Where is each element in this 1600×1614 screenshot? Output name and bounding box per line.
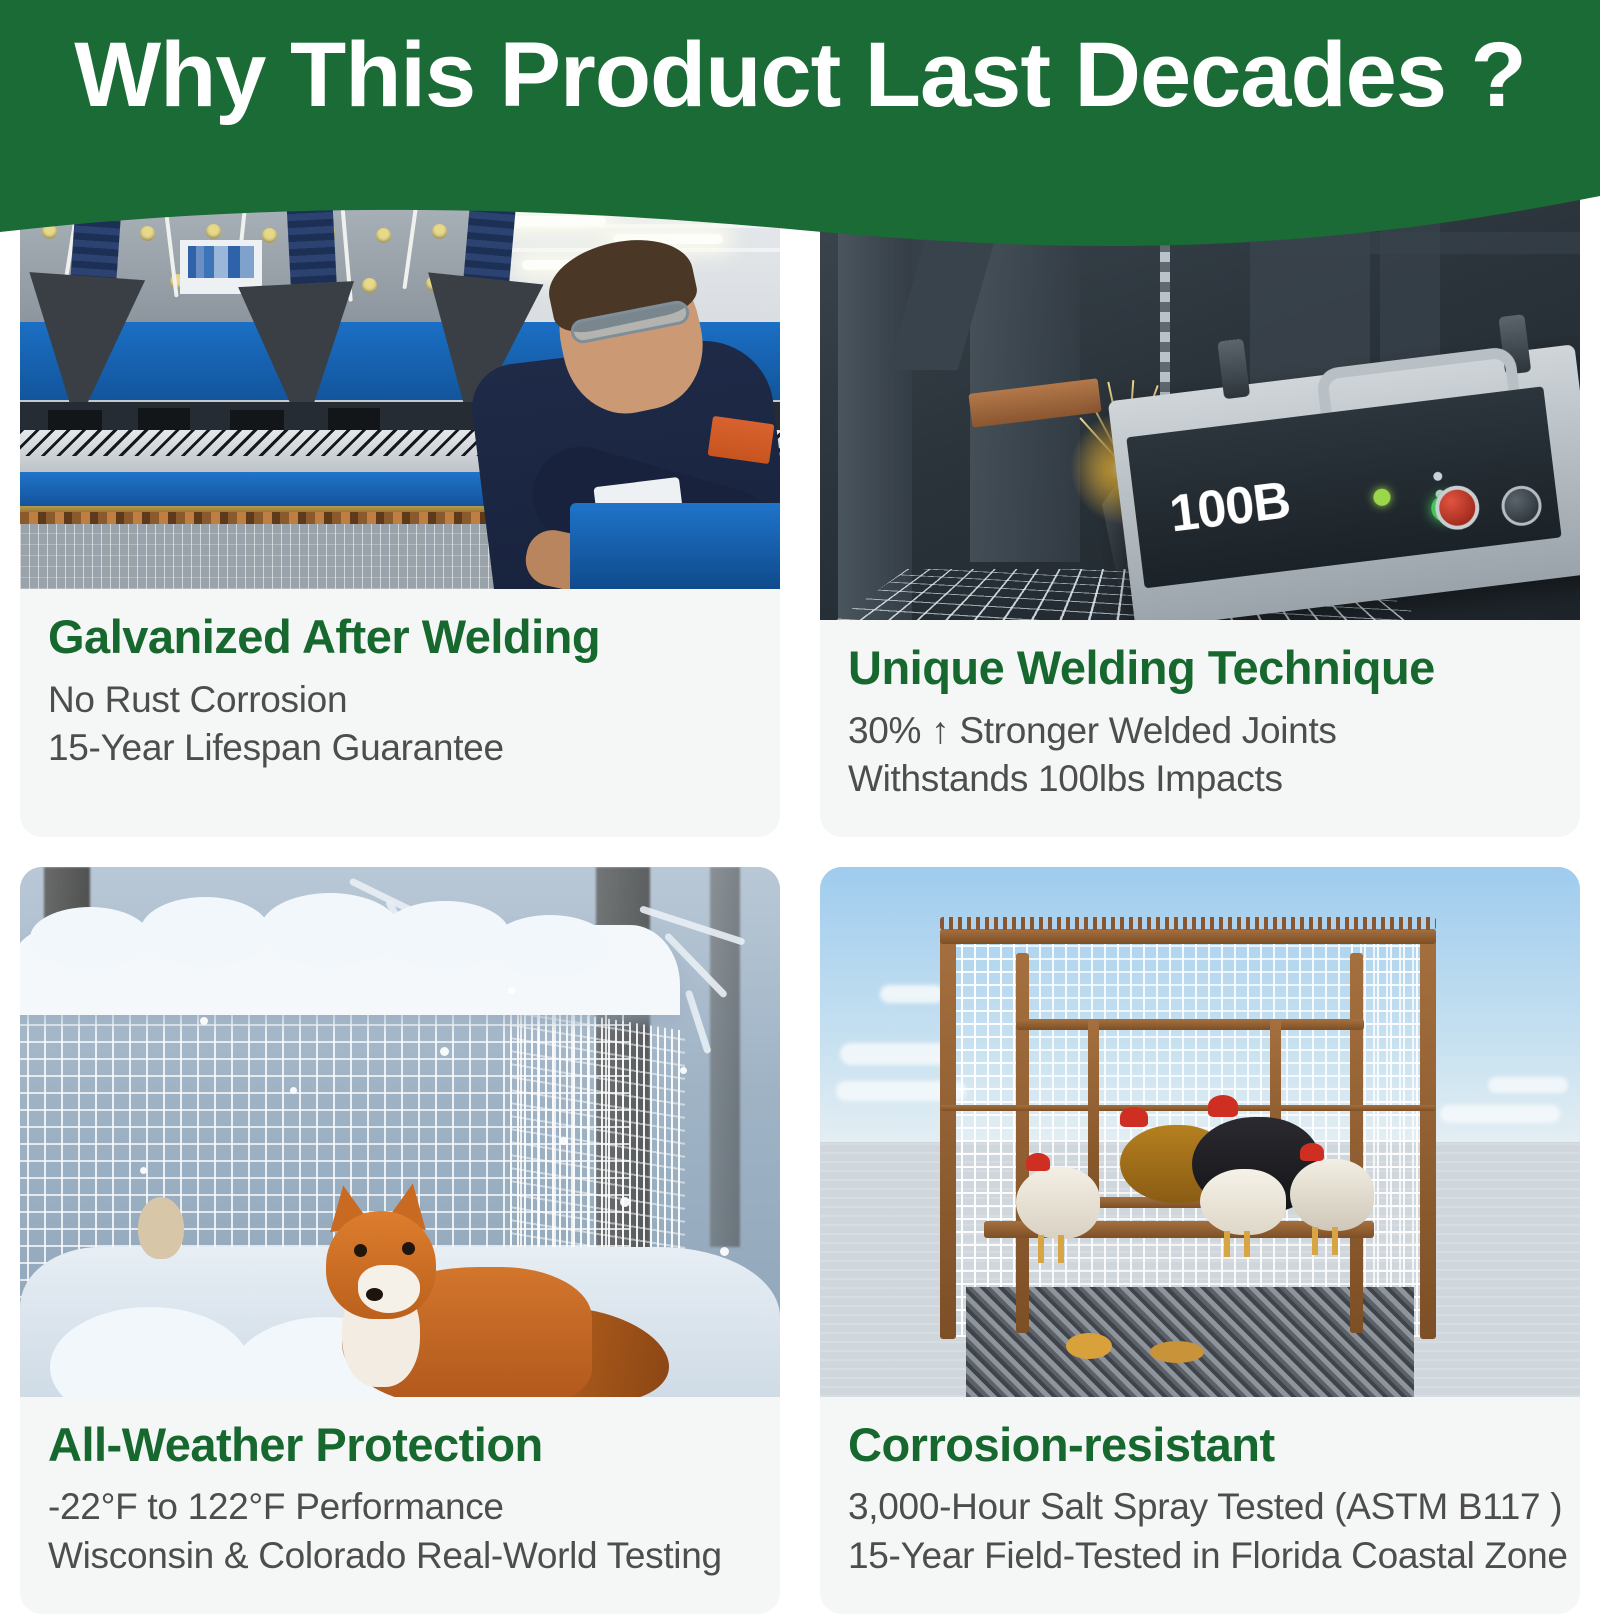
card-title: Corrosion-resistant <box>848 1419 1552 1472</box>
card-image-coastal-coop <box>820 867 1580 1397</box>
feature-card-corrosion-resistant[interactable]: Corrosion-resistant 3,000-Hour Salt Spra… <box>820 867 1580 1614</box>
card-text-block: All-Weather Protection -22°F to 122°F Pe… <box>20 1397 780 1614</box>
card-line-2: 15-Year Field-Tested in Florida Coastal … <box>848 1532 1552 1580</box>
feature-card-unique-welding-technique[interactable]: 100B Unique Welding Technique 30% ↑ Stro… <box>820 172 1580 837</box>
card-image-snow-enclosure-fox <box>20 867 780 1397</box>
card-line-2: Withstands 100lbs Impacts <box>848 755 1552 803</box>
feature-card-galvanized-after-welding[interactable]: Galvanized After Welding No Rust Corrosi… <box>20 172 780 837</box>
feature-card-all-weather-protection[interactable]: All-Weather Protection -22°F to 122°F Pe… <box>20 867 780 1614</box>
card-title: Unique Welding Technique <box>848 642 1552 695</box>
card-image-factory-welding-line <box>20 172 780 589</box>
page-title: Why This Product Last Decades ? <box>0 26 1600 125</box>
device-label: 100B <box>1166 470 1293 544</box>
card-title: All-Weather Protection <box>48 1419 752 1472</box>
card-line-1: No Rust Corrosion <box>48 676 752 724</box>
card-title: Galvanized After Welding <box>48 611 752 664</box>
card-line-1: 30% ↑ Stronger Welded Joints <box>848 707 1552 755</box>
card-text-block: Galvanized After Welding No Rust Corrosi… <box>20 589 780 806</box>
card-text-block: Corrosion-resistant 3,000-Hour Salt Spra… <box>820 1397 1580 1614</box>
card-line-2: 15-Year Lifespan Guarantee <box>48 724 752 772</box>
feature-card-grid: Galvanized After Welding No Rust Corrosi… <box>20 172 1580 1614</box>
card-line-2: Wisconsin & Colorado Real-World Testing <box>48 1532 752 1580</box>
card-line-1: 3,000-Hour Salt Spray Tested (ASTM B117 … <box>848 1483 1552 1531</box>
card-text-block: Unique Welding Technique 30% ↑ Stronger … <box>820 620 1580 837</box>
card-line-1: -22°F to 122°F Performance <box>48 1483 752 1531</box>
card-image-impact-test-rig: 100B <box>820 172 1580 620</box>
